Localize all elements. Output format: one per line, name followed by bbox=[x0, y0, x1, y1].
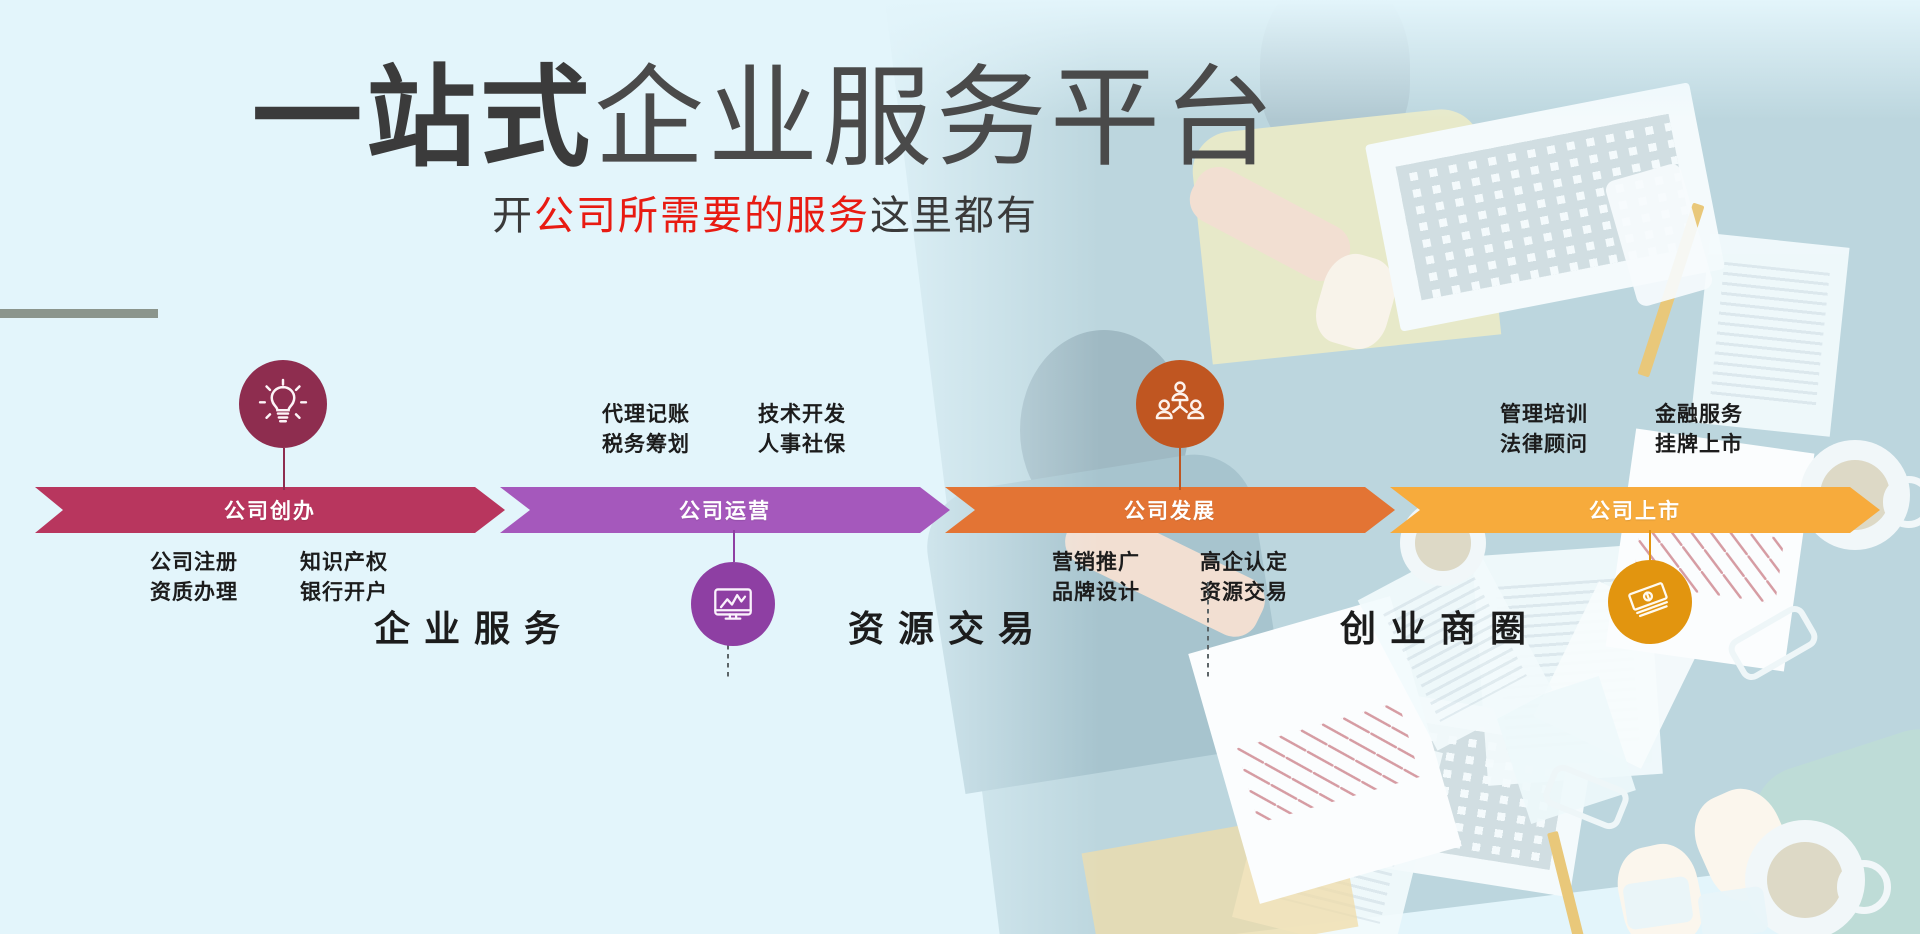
people-group-icon bbox=[1136, 360, 1224, 448]
stage-1-service-2: 资质办理 bbox=[150, 578, 238, 608]
flow-stage-3-label: 公司发展 bbox=[1124, 495, 1216, 525]
title-strong: 一站式 bbox=[252, 57, 594, 180]
flow-stage-1[interactable]: 公司创办 bbox=[35, 487, 505, 533]
paper-d bbox=[1494, 676, 1636, 824]
paper-f bbox=[1082, 808, 1359, 934]
stage-2-service-3: 技术开发 bbox=[758, 400, 846, 430]
stage-2-service-1: 代理记账 bbox=[602, 400, 690, 430]
stage-4-service-1: 管理培训 bbox=[1500, 400, 1588, 430]
paperclip-bottom bbox=[1540, 761, 1633, 833]
page-title: 一站式企业服务平台 bbox=[0, 58, 1530, 179]
flow-stage-4-label: 公司上市 bbox=[1589, 495, 1681, 525]
banner-canvas: 一站式企业服务平台 开公司所需要的服务这里都有 公司创办 公司运营 公司发展 bbox=[0, 0, 1920, 934]
stage-4-service-3: 金融服务 bbox=[1655, 400, 1743, 430]
stage-3-service-3: 高企认定 bbox=[1200, 548, 1288, 578]
lightbulb-glyph bbox=[256, 377, 310, 431]
stage-3-services-right: 高企认定 资源交易 bbox=[1200, 548, 1288, 608]
cash-stack-glyph bbox=[1624, 576, 1676, 628]
stage-2-stem bbox=[733, 530, 735, 562]
person-shirt-right bbox=[1741, 716, 1920, 934]
coffee-cup-bottom bbox=[1745, 820, 1865, 934]
stage-3-service-2: 品牌设计 bbox=[1052, 578, 1140, 608]
flow-stage-2[interactable]: 公司运营 bbox=[500, 487, 950, 533]
title-light: 企业服务平台 bbox=[594, 57, 1278, 180]
person-hand-top-left bbox=[1309, 247, 1404, 355]
people-group-glyph bbox=[1153, 377, 1207, 431]
person-hand-right-a bbox=[1682, 777, 1804, 911]
eraser-a bbox=[1622, 876, 1694, 931]
stage-4-services-right: 金融服务 挂牌上市 bbox=[1655, 400, 1743, 460]
eraser-b bbox=[1697, 886, 1769, 934]
category-enterprise-service[interactable]: 企业服务 bbox=[374, 600, 574, 652]
stage-4-service-2: 法律顾问 bbox=[1500, 430, 1588, 460]
paperclip-top bbox=[1724, 602, 1821, 685]
stage-4-services-left: 管理培训 法律顾问 bbox=[1500, 400, 1588, 460]
laptop-bottom bbox=[1273, 678, 1597, 898]
person-hand-right-b bbox=[1610, 838, 1709, 934]
cash-stack-icon bbox=[1608, 560, 1692, 644]
category-divider-2 bbox=[1207, 582, 1209, 678]
stage-1-service-1: 公司注册 bbox=[150, 548, 238, 578]
phone-device bbox=[1604, 162, 1715, 308]
page-subtitle: 开公司所需要的服务这里都有 bbox=[0, 192, 1530, 240]
stage-2-services-left: 代理记账 税务筹划 bbox=[602, 400, 690, 460]
stage-4-service-4: 挂牌上市 bbox=[1655, 430, 1743, 460]
paper-e bbox=[1232, 713, 1443, 934]
stage-1-service-3: 知识产权 bbox=[300, 548, 388, 578]
flow-stage-1-label: 公司创办 bbox=[224, 495, 316, 525]
category-startup-circle[interactable]: 创业商圈 bbox=[1340, 600, 1540, 652]
stage-1-services-left: 公司注册 资质办理 bbox=[150, 548, 238, 608]
subtitle-highlight: 公司所需要的服务 bbox=[534, 194, 870, 238]
pencil-bottom bbox=[1547, 831, 1594, 934]
title-divider bbox=[0, 305, 1530, 323]
subtitle-suffix: 这里都有 bbox=[870, 194, 1038, 238]
stage-2-services-right: 技术开发 人事社保 bbox=[758, 400, 846, 460]
stage-3-services-left: 营销推广 品牌设计 bbox=[1052, 548, 1140, 608]
flow-stage-4[interactable]: 公司上市 bbox=[1390, 487, 1880, 533]
monitor-chart-glyph bbox=[708, 579, 758, 629]
monitor-chart-icon bbox=[691, 562, 775, 646]
stage-1-stem bbox=[283, 448, 285, 490]
person-hand-left bbox=[1214, 629, 1323, 749]
subtitle-prefix: 开 bbox=[492, 194, 534, 238]
stage-4-stem bbox=[1649, 530, 1651, 560]
stage-3-service-4: 资源交易 bbox=[1200, 578, 1288, 608]
lightbulb-icon bbox=[239, 360, 327, 448]
stage-2-service-2: 税务筹划 bbox=[602, 430, 690, 460]
process-flow-bar: 公司创办 公司运营 公司发展 公司上市 bbox=[0, 487, 1920, 533]
stage-1-services-right: 知识产权 银行开户 bbox=[300, 548, 388, 608]
flow-stage-2-label: 公司运营 bbox=[679, 495, 771, 525]
stage-3-service-1: 营销推广 bbox=[1052, 548, 1140, 578]
category-resource-trade[interactable]: 资源交易 bbox=[848, 600, 1048, 652]
stage-3-stem bbox=[1179, 448, 1181, 490]
stage-2-service-4: 人事社保 bbox=[758, 430, 846, 460]
flow-stage-3[interactable]: 公司发展 bbox=[945, 487, 1395, 533]
pencil-top bbox=[1637, 203, 1704, 378]
